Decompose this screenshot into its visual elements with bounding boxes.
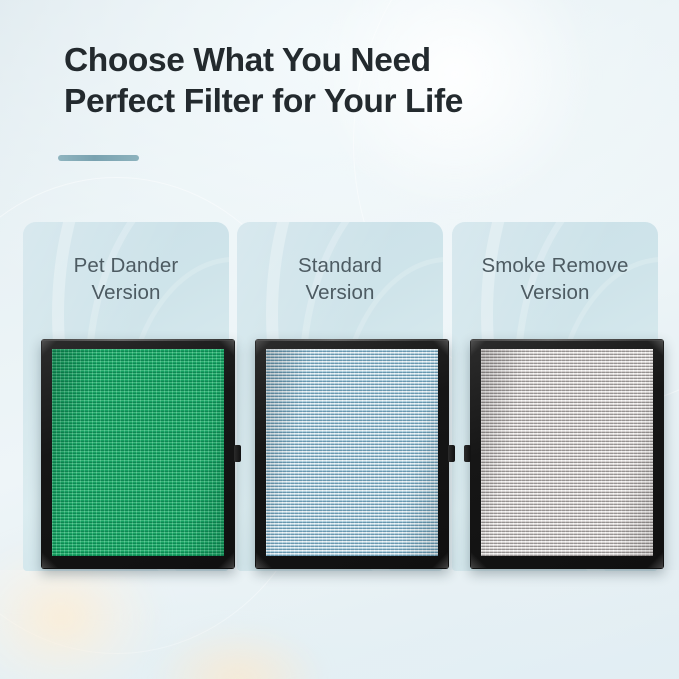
card-title: Standard Version — [237, 252, 443, 307]
frame-highlight — [255, 339, 449, 341]
standard-filter — [255, 339, 449, 569]
filter-card-row: Pet Dander Version Standard Version Smok… — [0, 0, 679, 679]
filter-pull-tab — [234, 445, 241, 462]
card-title-line-2: Version — [23, 279, 229, 306]
filter-inner-shading — [266, 349, 438, 556]
filter-pull-tab — [448, 445, 455, 462]
filter-inner-shading — [481, 349, 653, 556]
pet-dander-filter — [41, 339, 235, 569]
card-title-line-1: Standard — [237, 252, 443, 279]
filter-media — [52, 349, 224, 556]
filter-media — [266, 349, 438, 556]
card-title-line-2: Version — [452, 279, 658, 306]
filter-inner-shading — [52, 349, 224, 556]
smoke-remove-filter — [470, 339, 664, 569]
card-title-line-2: Version — [237, 279, 443, 306]
card-title-line-1: Smoke Remove — [452, 252, 658, 279]
card-title: Smoke Remove Version — [452, 252, 658, 307]
product-comparison-banner: Choose What You Need Perfect Filter for … — [0, 0, 679, 679]
card-title-line-1: Pet Dander — [23, 252, 229, 279]
filter-media — [481, 349, 653, 556]
frame-highlight — [41, 339, 235, 341]
card-title: Pet Dander Version — [23, 252, 229, 307]
frame-highlight — [470, 339, 664, 341]
filter-pull-tab — [464, 445, 471, 462]
